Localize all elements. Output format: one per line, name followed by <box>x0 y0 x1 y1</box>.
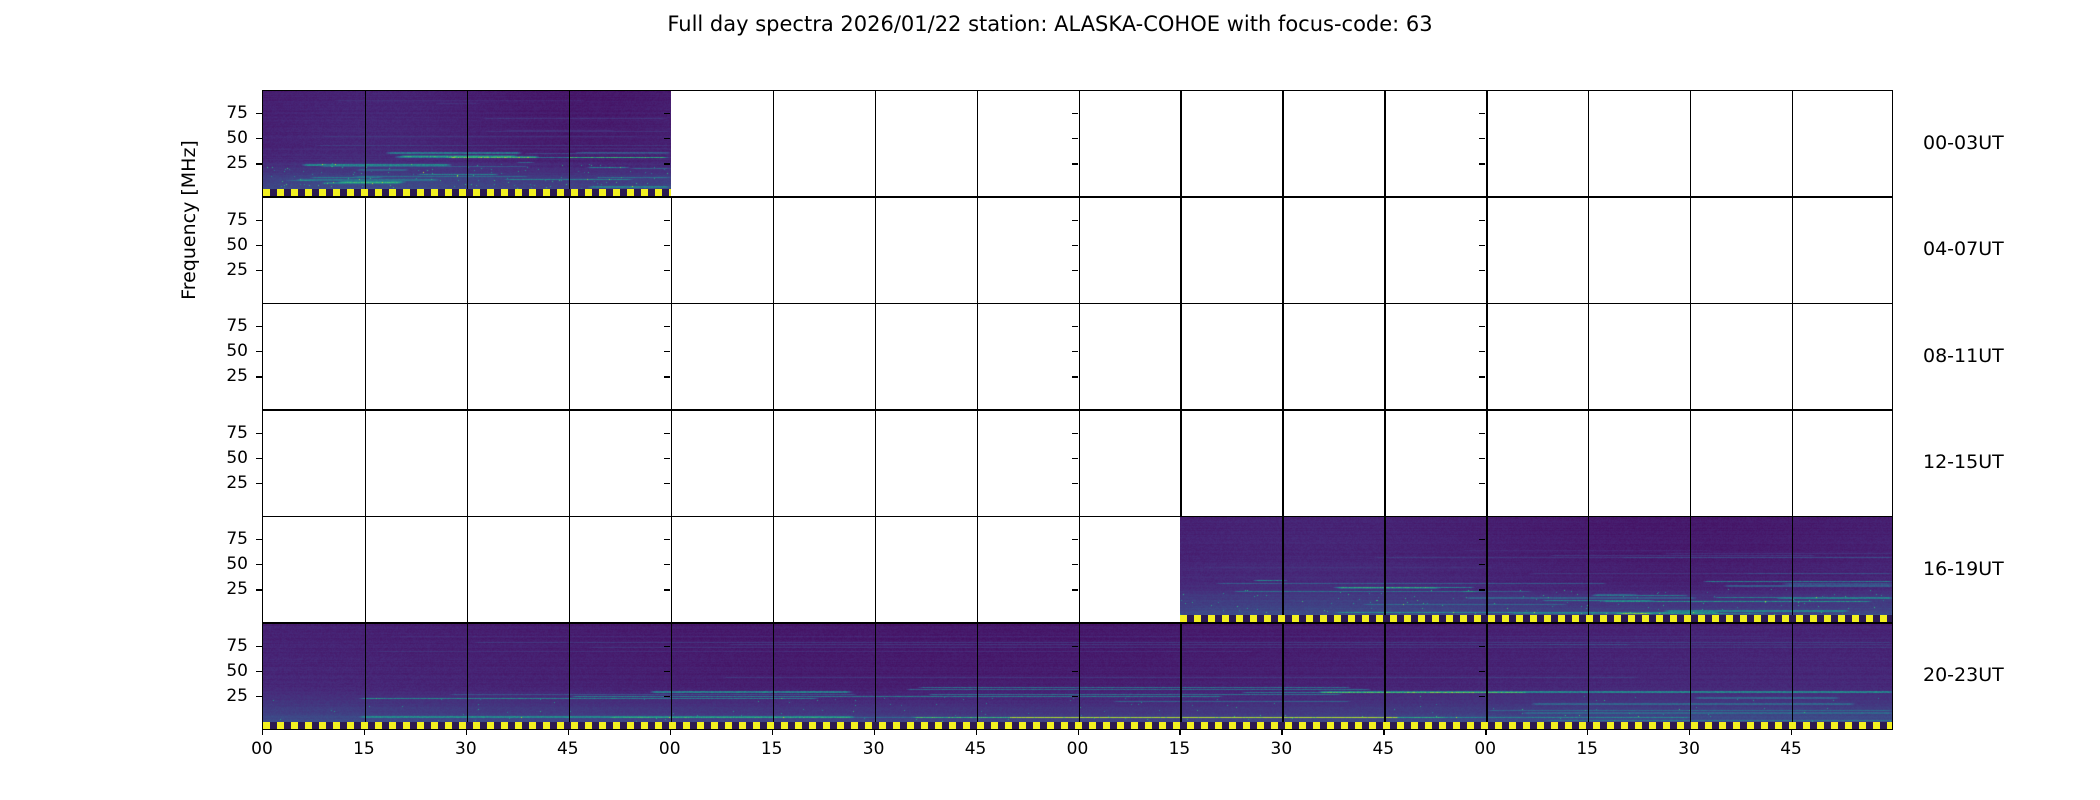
time-gridline <box>671 624 672 729</box>
y-axis-inner-tick <box>664 113 670 114</box>
time-gridline <box>977 304 978 409</box>
time-gridline <box>1690 91 1691 196</box>
time-gridline <box>1792 304 1793 409</box>
y-axis-inner-tick <box>1072 433 1078 434</box>
x-axis-tick <box>262 730 263 735</box>
y-axis-inner-tick <box>1479 696 1485 697</box>
y-axis-inner-tick <box>1072 270 1078 271</box>
figure-title: Full day spectra 2026/01/22 station: ALA… <box>0 12 2100 36</box>
x-axis-tick <box>1791 730 1792 735</box>
time-gridline <box>1690 517 1691 622</box>
time-gridline <box>569 411 570 516</box>
time-gridline <box>671 304 672 409</box>
time-gridline <box>773 198 774 303</box>
y-axis-inner-tick <box>664 351 670 352</box>
y-axis-tick <box>256 458 262 459</box>
y-axis-inner-tick <box>1072 458 1078 459</box>
time-gridline <box>1792 91 1793 196</box>
time-gridline <box>1588 304 1589 409</box>
y-axis-inner-tick <box>1072 589 1078 590</box>
y-axis-inner-tick <box>664 376 670 377</box>
x-axis-tick-label: 15 <box>1139 739 1219 759</box>
time-gridline <box>977 91 978 196</box>
time-gridline <box>773 304 774 409</box>
time-gridline <box>1282 624 1283 729</box>
y-axis-inner-tick <box>1072 326 1078 327</box>
y-axis-inner-tick <box>1479 326 1485 327</box>
time-gridline <box>875 517 876 622</box>
y-axis-tick-label: 25 <box>182 153 248 173</box>
time-gridline <box>569 91 570 196</box>
y-axis-tick <box>256 376 262 377</box>
time-gridline <box>569 624 570 729</box>
x-axis-tick-label: 45 <box>1751 739 1831 759</box>
time-gridline <box>1384 198 1385 303</box>
time-gridline <box>1384 304 1385 409</box>
time-gridline <box>467 198 468 303</box>
y-axis-inner-tick <box>1479 433 1485 434</box>
time-gridline <box>365 198 366 303</box>
y-axis-inner-tick <box>664 245 670 246</box>
spectrogram-row[interactable]: 75502500-03UT <box>262 90 1893 197</box>
time-gridline <box>671 198 672 303</box>
time-gridline <box>569 198 570 303</box>
x-axis-tick <box>1587 730 1588 735</box>
spectrogram-panel[interactable] <box>262 410 1893 517</box>
y-axis-tick <box>256 163 262 164</box>
time-gridline <box>467 517 468 622</box>
row-time-label: 16-19UT <box>1923 558 2004 580</box>
time-gridline <box>569 304 570 409</box>
y-axis-tick <box>256 220 262 221</box>
x-axis-tick-label: 45 <box>528 739 608 759</box>
spectrogram-row[interactable]: 75502516-19UT <box>262 516 1893 623</box>
y-axis-tick-label: 75 <box>182 423 248 443</box>
y-axis-inner-tick <box>664 646 670 647</box>
x-axis-tick-label: 45 <box>936 739 1016 759</box>
y-axis-inner-tick <box>1072 245 1078 246</box>
time-gridline <box>1588 411 1589 516</box>
time-gridline <box>1079 517 1080 622</box>
row-time-label: 12-15UT <box>1923 451 2004 473</box>
time-gridline <box>1384 91 1385 196</box>
y-axis-tick-label: 25 <box>182 473 248 493</box>
y-axis-inner-tick <box>1479 483 1485 484</box>
time-gridline <box>977 411 978 516</box>
y-axis-inner-tick <box>664 671 670 672</box>
x-axis-tick <box>466 730 467 735</box>
y-axis-tick-label: 25 <box>182 686 248 706</box>
y-axis-inner-tick <box>1479 671 1485 672</box>
time-gridline <box>1486 411 1487 516</box>
time-gridline <box>1486 198 1487 303</box>
y-axis-tick <box>256 696 262 697</box>
time-gridline <box>1792 517 1793 622</box>
y-axis-tick-label: 50 <box>182 341 248 361</box>
y-axis-inner-tick <box>664 220 670 221</box>
y-axis-inner-tick <box>1479 589 1485 590</box>
y-axis-inner-tick <box>1072 483 1078 484</box>
x-axis-tick <box>1179 730 1180 735</box>
x-axis-tick <box>1689 730 1690 735</box>
y-axis-inner-tick <box>1072 646 1078 647</box>
y-axis-tick-label: 50 <box>182 448 248 468</box>
y-axis-tick-label: 50 <box>182 128 248 148</box>
time-gridline <box>671 411 672 516</box>
y-axis-inner-tick <box>664 589 670 590</box>
y-axis-tick <box>256 589 262 590</box>
time-gridline <box>569 517 570 622</box>
spectrogram-data-segment <box>1180 517 1893 622</box>
time-gridline <box>875 411 876 516</box>
time-gridline <box>365 91 366 196</box>
time-gridline <box>773 624 774 729</box>
time-gridline <box>1792 198 1793 303</box>
time-gridline <box>1180 624 1181 729</box>
spectrogram-panel[interactable] <box>262 90 1893 197</box>
y-axis-tick <box>256 245 262 246</box>
time-gridline <box>773 91 774 196</box>
y-axis-inner-tick <box>1072 376 1078 377</box>
x-axis-tick-label: 45 <box>1343 739 1423 759</box>
time-gridline <box>365 411 366 516</box>
x-axis-tick-label: 00 <box>222 739 302 759</box>
x-axis-tick-label: 15 <box>732 739 812 759</box>
y-axis-inner-tick <box>664 433 670 434</box>
spectrogram-panel[interactable] <box>262 516 1893 623</box>
x-axis-tick <box>568 730 569 735</box>
y-axis-inner-tick <box>1072 113 1078 114</box>
spectrogram-figure: Full day spectra 2026/01/22 station: ALA… <box>0 0 2100 800</box>
spectrogram-data-segment <box>263 91 671 196</box>
y-axis-inner-tick <box>664 326 670 327</box>
y-axis-tick <box>256 351 262 352</box>
x-axis-tick-label: 30 <box>1241 739 1321 759</box>
time-gridline <box>1588 624 1589 729</box>
time-gridline <box>1486 517 1487 622</box>
x-axis-tick <box>976 730 977 735</box>
y-axis-inner-tick <box>1072 539 1078 540</box>
time-gridline <box>365 304 366 409</box>
y-axis-inner-tick <box>1072 163 1078 164</box>
time-gridline <box>875 624 876 729</box>
y-axis-tick <box>256 483 262 484</box>
spectrogram-row[interactable]: 75502520-23UT <box>262 623 1893 730</box>
burst-marker-strip <box>263 722 1893 729</box>
x-axis-tick-label: 15 <box>1547 739 1627 759</box>
time-gridline <box>1486 304 1487 409</box>
time-gridline <box>1792 411 1793 516</box>
y-axis-tick <box>256 646 262 647</box>
row-time-label: 04-07UT <box>1923 238 2004 260</box>
y-axis-inner-tick <box>664 163 670 164</box>
row-time-label: 08-11UT <box>1923 345 2004 367</box>
spectrogram-image <box>1180 517 1893 622</box>
time-gridline <box>875 91 876 196</box>
time-gridline <box>1282 411 1283 516</box>
y-axis-inner-tick <box>1072 138 1078 139</box>
y-axis-tick-label: 75 <box>182 210 248 230</box>
time-gridline <box>1486 91 1487 196</box>
y-axis-inner-tick <box>1479 646 1485 647</box>
time-gridline <box>671 517 672 622</box>
time-gridline <box>1792 624 1793 729</box>
time-gridline <box>467 304 468 409</box>
time-gridline <box>977 624 978 729</box>
time-gridline <box>1588 517 1589 622</box>
time-gridline <box>1690 304 1691 409</box>
spectrogram-panel[interactable] <box>262 623 1893 730</box>
x-axis-tick <box>364 730 365 735</box>
y-axis-inner-tick <box>664 539 670 540</box>
time-gridline <box>1180 304 1181 409</box>
y-axis-inner-tick <box>1479 163 1485 164</box>
spectrogram-panel[interactable] <box>262 303 1893 410</box>
x-axis-tick-label: 00 <box>1038 739 1118 759</box>
y-axis-inner-tick <box>1072 220 1078 221</box>
x-axis-tick-label: 00 <box>630 739 710 759</box>
time-gridline <box>1588 91 1589 196</box>
y-axis-inner-tick <box>664 564 670 565</box>
time-gridline <box>1282 517 1283 622</box>
time-gridline <box>977 517 978 622</box>
time-gridline <box>875 198 876 303</box>
y-axis-tick-label: 75 <box>182 103 248 123</box>
row-time-label: 20-23UT <box>1923 664 2004 686</box>
time-gridline <box>1180 91 1181 196</box>
y-axis-tick <box>256 113 262 114</box>
time-gridline <box>1690 198 1691 303</box>
y-axis-inner-tick <box>664 696 670 697</box>
y-axis-inner-tick <box>1072 564 1078 565</box>
time-gridline <box>467 91 468 196</box>
y-axis-inner-tick <box>1479 539 1485 540</box>
time-gridline <box>977 198 978 303</box>
burst-marker-strip <box>263 189 671 196</box>
y-axis-tick-label: 25 <box>182 579 248 599</box>
y-axis-inner-tick <box>1479 113 1485 114</box>
time-gridline <box>1384 411 1385 516</box>
time-gridline <box>1079 304 1080 409</box>
time-gridline <box>773 517 774 622</box>
spectrogram-row[interactable]: 75502504-07UT <box>262 197 1893 304</box>
y-axis-tick <box>256 433 262 434</box>
x-axis-tick <box>1281 730 1282 735</box>
x-axis-tick <box>1078 730 1079 735</box>
x-axis-tick-label: 30 <box>1649 739 1729 759</box>
time-gridline <box>1588 198 1589 303</box>
time-gridline <box>467 411 468 516</box>
y-axis-inner-tick <box>664 270 670 271</box>
x-axis-tick-label: 15 <box>324 739 404 759</box>
y-axis-tick-label: 25 <box>182 366 248 386</box>
y-axis-tick-label: 75 <box>182 636 248 656</box>
y-axis-tick-label: 50 <box>182 235 248 255</box>
time-gridline <box>1282 304 1283 409</box>
y-axis-tick <box>256 539 262 540</box>
y-axis-tick <box>256 270 262 271</box>
y-axis-tick-label: 50 <box>182 661 248 681</box>
y-axis-tick-label: 25 <box>182 260 248 280</box>
y-axis-tick <box>256 671 262 672</box>
time-gridline <box>1486 624 1487 729</box>
time-gridline <box>773 411 774 516</box>
spectrogram-panel[interactable] <box>262 197 1893 304</box>
y-axis-inner-tick <box>1072 351 1078 352</box>
y-axis-inner-tick <box>1479 220 1485 221</box>
y-axis-inner-tick <box>664 458 670 459</box>
x-axis-tick-label: 30 <box>834 739 914 759</box>
y-axis-inner-tick <box>1479 270 1485 271</box>
x-axis-tick <box>670 730 671 735</box>
spectrogram-data-segment <box>263 624 1893 729</box>
y-axis-tick-label: 75 <box>182 316 248 336</box>
time-gridline <box>1282 198 1283 303</box>
time-gridline <box>1384 624 1385 729</box>
time-gridline <box>1180 198 1181 303</box>
x-axis-tick <box>772 730 773 735</box>
y-axis-inner-tick <box>1479 458 1485 459</box>
y-axis-inner-tick <box>664 483 670 484</box>
time-gridline <box>365 624 366 729</box>
x-axis-tick <box>1485 730 1486 735</box>
y-axis-tick <box>256 564 262 565</box>
time-gridline <box>1282 91 1283 196</box>
time-gridline <box>1079 411 1080 516</box>
spectrogram-row[interactable]: 75502512-15UT <box>262 410 1893 517</box>
time-gridline <box>875 304 876 409</box>
x-axis-tick-label: 00 <box>1445 739 1525 759</box>
burst-marker-strip <box>1180 615 1893 622</box>
time-gridline <box>1079 198 1080 303</box>
time-gridline <box>1079 624 1080 729</box>
y-axis-inner-tick <box>1479 376 1485 377</box>
y-axis-inner-tick <box>1479 351 1485 352</box>
time-gridline <box>1690 411 1691 516</box>
x-axis-tick-label: 30 <box>426 739 506 759</box>
x-axis-tick <box>1383 730 1384 735</box>
time-gridline <box>1079 91 1080 196</box>
y-axis-inner-tick <box>1072 696 1078 697</box>
y-axis-inner-tick <box>1072 671 1078 672</box>
y-axis-inner-tick <box>1479 564 1485 565</box>
y-axis-inner-tick <box>1479 138 1485 139</box>
y-axis-inner-tick <box>1479 245 1485 246</box>
row-time-label: 00-03UT <box>1923 132 2004 154</box>
y-axis-tick <box>256 138 262 139</box>
spectrogram-row[interactable]: 75502508-11UT <box>262 303 1893 410</box>
y-axis-tick-label: 50 <box>182 554 248 574</box>
y-axis-tick <box>256 326 262 327</box>
time-gridline <box>365 517 366 622</box>
time-gridline <box>467 624 468 729</box>
time-gridline <box>1690 624 1691 729</box>
x-axis-tick <box>874 730 875 735</box>
time-gridline <box>1180 411 1181 516</box>
y-axis-tick-label: 75 <box>182 529 248 549</box>
y-axis-inner-tick <box>664 138 670 139</box>
time-gridline <box>1384 517 1385 622</box>
